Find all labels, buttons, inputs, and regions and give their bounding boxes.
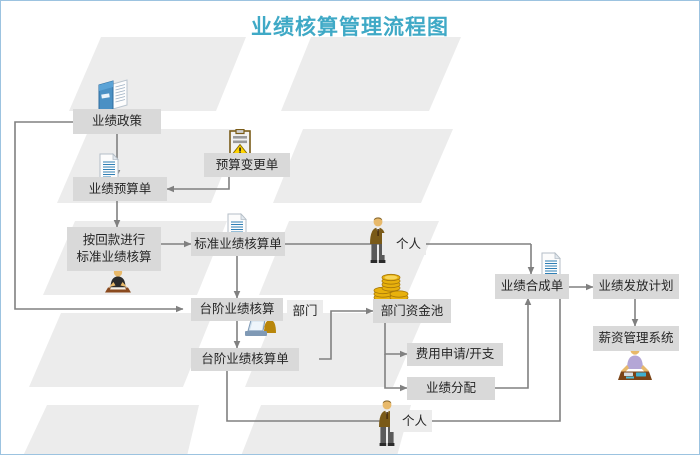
node-label: 业绩政策	[92, 114, 142, 129]
node-label: 业绩合成单	[501, 279, 564, 294]
node-dept-pool[interactable]: 部门资金池	[373, 299, 451, 323]
node-dept-label: 部门	[287, 300, 323, 322]
node-label: 预算变更单	[216, 158, 279, 173]
node-merge-sheet[interactable]: 业绩合成单	[495, 274, 569, 299]
node-person-bottom[interactable]: 个人	[390, 410, 432, 432]
node-label: 薪资管理系统	[598, 331, 673, 346]
node-policy[interactable]: 业绩政策	[73, 109, 161, 134]
node-step-calc[interactable]: 台阶业绩核算	[191, 298, 283, 321]
node-label: 业绩预算单	[89, 182, 152, 197]
node-budget-change[interactable]: 预算变更单	[204, 153, 290, 177]
flowchart-canvas: 业绩核算管理流程图	[0, 0, 700, 455]
node-expense[interactable]: 费用申请/开支	[407, 343, 503, 366]
node-label: 台阶业绩核算	[199, 302, 274, 317]
page-title: 业绩核算管理流程图	[1, 11, 699, 41]
node-label: 部门	[292, 304, 317, 319]
node-standard-sheet[interactable]: 标准业绩核算单	[191, 232, 285, 256]
node-distribution[interactable]: 业绩分配	[407, 377, 495, 400]
node-label: 业绩分配	[426, 381, 476, 396]
node-label: 费用申请/开支	[416, 347, 494, 362]
node-person-top[interactable]: 个人	[382, 233, 426, 255]
node-payout-plan[interactable]: 业绩发放计划	[593, 274, 679, 299]
node-label: 个人	[396, 237, 421, 252]
node-calc-by-payment[interactable]: 按回款进行 标准业绩核算	[67, 227, 161, 271]
node-label: 业绩发放计划	[598, 279, 673, 294]
node-payroll-system[interactable]: 薪资管理系统	[593, 326, 679, 351]
node-label: 标准业绩核算单	[194, 237, 282, 252]
node-label: 个人	[402, 414, 427, 429]
node-label: 部门资金池	[381, 304, 444, 319]
node-step-sheet[interactable]: 台阶业绩核算单	[191, 348, 299, 371]
node-label-line2: 标准业绩核算	[76, 249, 151, 266]
node-label-line1: 按回款进行	[83, 232, 146, 249]
node-budget-sheet[interactable]: 业绩预算单	[73, 177, 167, 201]
node-label: 台阶业绩核算单	[201, 352, 289, 367]
